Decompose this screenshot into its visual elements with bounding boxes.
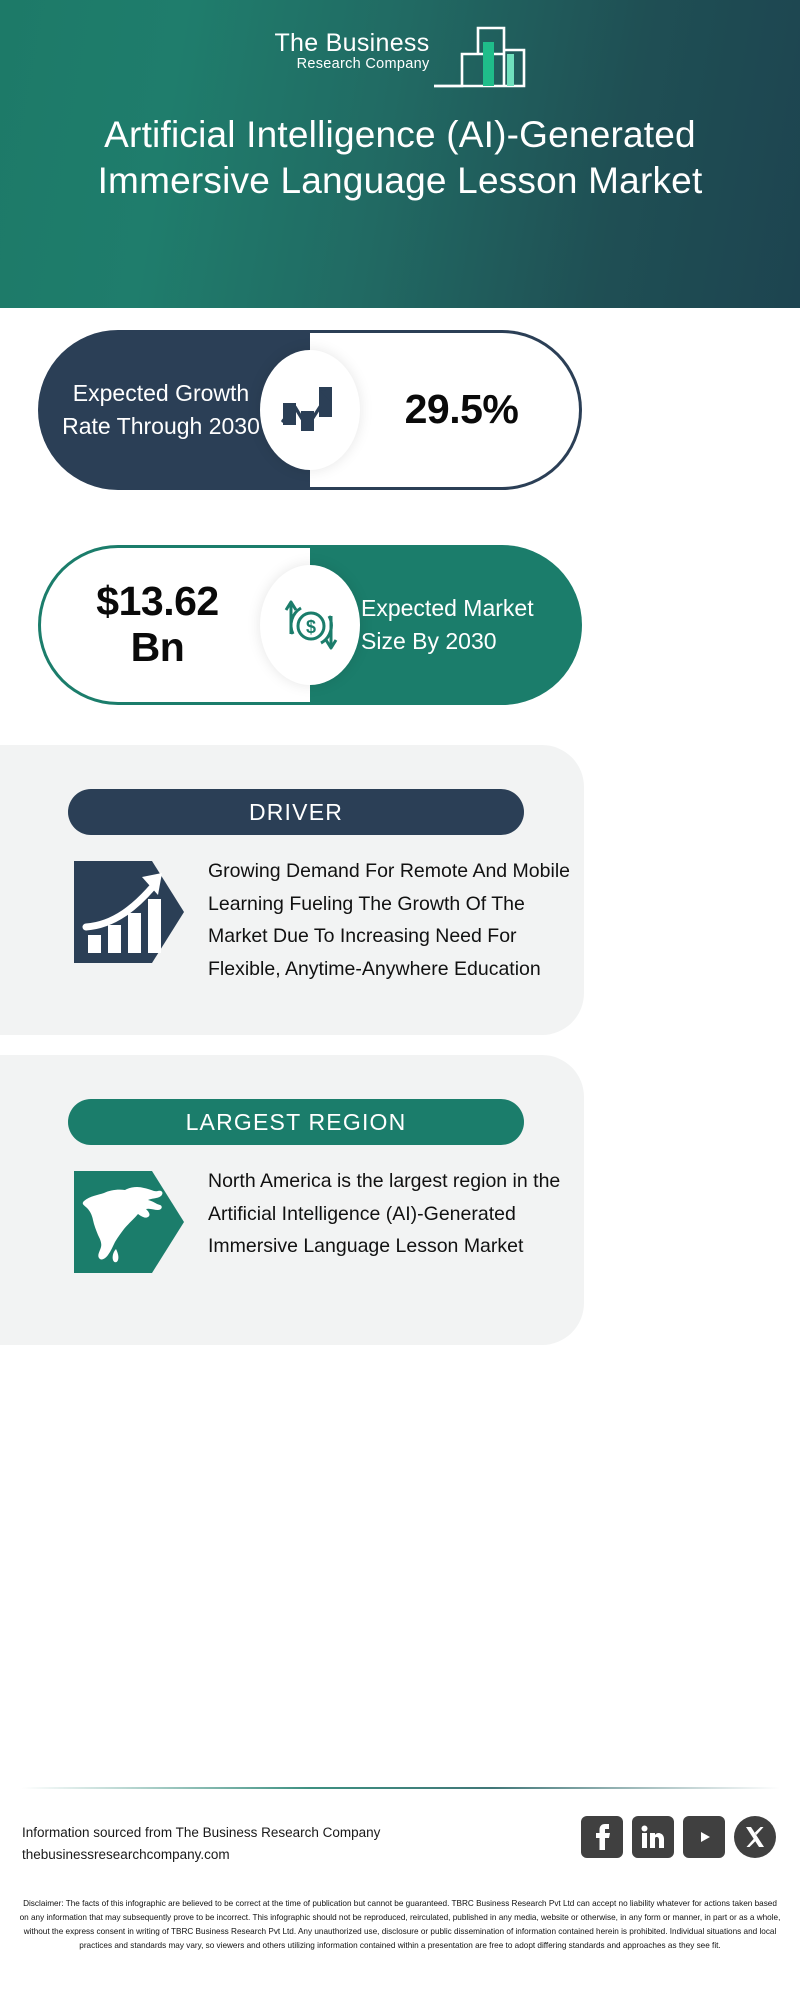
linkedin-icon[interactable] [632,1816,674,1858]
footer-website-link[interactable]: thebusinessresearchcompany.com [22,1844,380,1866]
stat-card-market-size: $13.62 Bn Expected Market Size By 2030 $ [38,545,582,705]
footer-divider [22,1787,780,1789]
driver-text: Growing Demand For Remote And Mobile Lea… [208,853,570,985]
stat-size-value: $13.62 Bn [96,579,254,671]
youtube-icon[interactable] [683,1816,725,1858]
region-body: North America is the largest region in t… [70,1163,570,1281]
brand-logo[interactable]: The Business Research Company [0,20,800,92]
stat-card-growth-rate: Expected Growth Rate Through 2030 29.5% [38,330,582,490]
dollar-circular-arrows-icon: $ [260,565,360,685]
region-text: North America is the largest region in t… [208,1163,570,1263]
footer-source: Information sourced from The Business Re… [22,1822,380,1867]
bar-chart-arrow-up-icon [260,350,360,470]
svg-text:$: $ [306,617,316,637]
bar-chart-logo-icon [432,24,526,97]
region-pill-label: LARGEST REGION [68,1099,524,1145]
footer-source-line1: Information sourced from The Business Re… [22,1822,380,1844]
stat-growth-label: Expected Growth Rate Through 2030 [54,377,295,442]
stat-size-value-line1: $13.62 [96,579,218,625]
footer: Information sourced from The Business Re… [0,1812,800,1882]
brand-logo-line2: Research Company [297,57,430,73]
header-banner: The Business Research Company Artificial… [0,0,800,308]
north-america-map-pentagon-icon [70,1163,188,1281]
x-twitter-icon[interactable] [734,1816,776,1858]
disclaimer-text: Disclaimer: The facts of this infographi… [18,1897,782,1953]
panel-largest-region: LARGEST REGION North America is the larg… [0,1055,584,1345]
stat-size-label: Expected Market Size By 2030 [331,592,561,657]
driver-body: Growing Demand For Remote And Mobile Lea… [70,853,570,985]
social-links [581,1816,776,1858]
brand-logo-text: The Business Research Company [274,20,429,73]
driver-pill-label: DRIVER [68,789,524,835]
panel-driver: DRIVER Growing Demand For Remote And Mob… [0,745,584,1035]
page-title: Artificial Intelligence (AI)-Generated I… [70,112,730,205]
stat-growth-value: 29.5% [371,387,519,433]
stat-size-value-line2: Bn [96,625,218,671]
facebook-icon[interactable] [581,1816,623,1858]
brand-logo-line1: The Business [274,30,429,56]
growth-chart-arrow-pentagon-icon [70,853,188,971]
